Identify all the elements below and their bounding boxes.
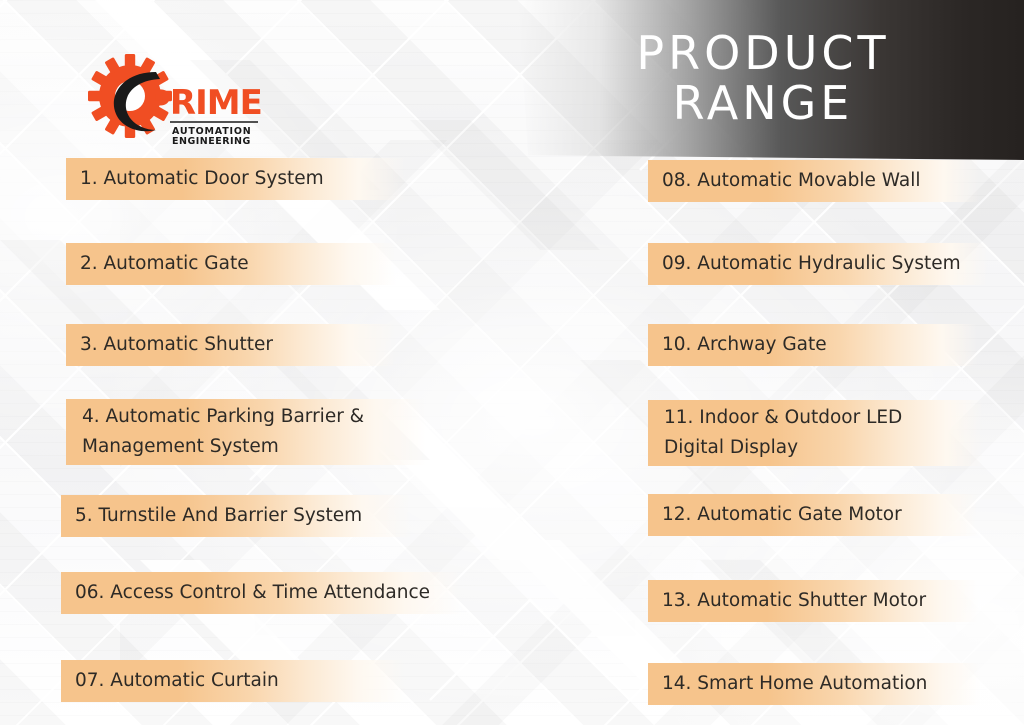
product-item[interactable]: 12. Automatic Gate Motor — [648, 494, 978, 536]
company-logo: PRIME AUTOMATION ENGINEERING — [86, 52, 266, 152]
product-item[interactable]: 10. Archway Gate — [648, 324, 978, 366]
product-label: 1. Automatic Door System — [66, 164, 324, 194]
product-item[interactable]: 4. Automatic Parking Barrier & Managemen… — [66, 399, 426, 465]
product-label: 09. Automatic Hydraulic System — [648, 249, 961, 279]
product-item[interactable]: 09. Automatic Hydraulic System — [648, 243, 988, 285]
product-item[interactable]: 3. Automatic Shutter — [66, 324, 396, 366]
product-item[interactable]: 07. Automatic Curtain — [61, 660, 406, 702]
product-label: 13. Automatic Shutter Motor — [648, 586, 926, 616]
product-item[interactable]: 06. Access Control & Time Attendance — [61, 572, 461, 614]
logo-wordmark: PRIME — [146, 83, 262, 123]
product-label: 2. Automatic Gate — [66, 249, 249, 279]
product-item[interactable]: 1. Automatic Door System — [66, 158, 406, 200]
product-item[interactable]: 08. Automatic Movable Wall — [648, 160, 980, 202]
product-label: 3. Automatic Shutter — [66, 330, 273, 360]
product-item[interactable]: 11. Indoor & Outdoor LED Digital Display — [648, 400, 983, 466]
product-label: 10. Archway Gate — [648, 330, 827, 360]
product-item[interactable]: 5. Turnstile And Barrier System — [61, 495, 411, 537]
product-label: 07. Automatic Curtain — [61, 666, 279, 696]
page-title-line2: RANGE — [518, 78, 1008, 128]
product-label: 06. Access Control & Time Attendance — [61, 578, 430, 608]
product-label: 12. Automatic Gate Motor — [648, 500, 902, 530]
product-range-poster: PRODUCT RANGE — [0, 0, 1024, 725]
page-title: PRODUCT RANGE — [518, 28, 1008, 128]
prime-logo-icon: PRIME AUTOMATION ENGINEERING — [86, 52, 266, 152]
product-label: 14. Smart Home Automation — [648, 669, 927, 699]
page-title-line1: PRODUCT — [636, 26, 889, 80]
product-label: 08. Automatic Movable Wall — [648, 166, 921, 196]
product-label: 11. Indoor & Outdoor LED Digital Display — [648, 403, 902, 463]
product-item[interactable]: 13. Automatic Shutter Motor — [648, 580, 978, 622]
product-label: 5. Turnstile And Barrier System — [61, 501, 362, 531]
product-item[interactable]: 2. Automatic Gate — [66, 243, 396, 285]
logo-tagline-line2: ENGINEERING — [172, 136, 251, 147]
product-item[interactable]: 14. Smart Home Automation — [648, 663, 980, 705]
product-label: 4. Automatic Parking Barrier & Managemen… — [66, 402, 364, 462]
